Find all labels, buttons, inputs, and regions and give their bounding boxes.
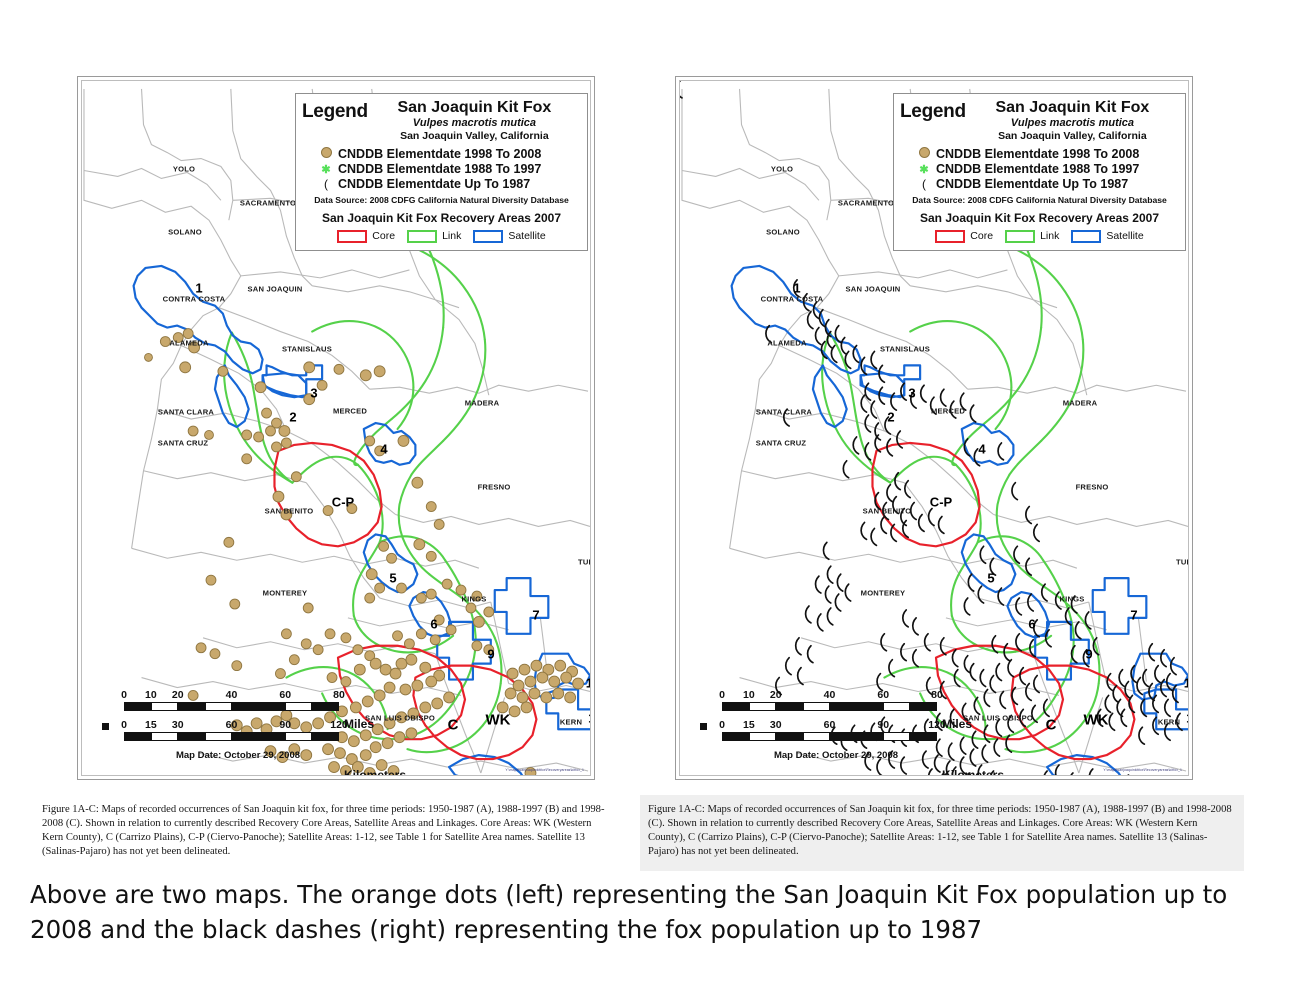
scale-tick: 30: [172, 719, 184, 731]
legend-key-link: Link: [1005, 230, 1059, 243]
scale-tick: 40: [226, 689, 238, 701]
km-unit-label: Kilometers: [942, 768, 1004, 776]
core-area-label-c-p: C-P: [930, 495, 952, 510]
scale-tick: 60: [877, 689, 889, 701]
legend-entry-label: CNDDB Elementdate 1988 To 1997: [936, 162, 1139, 176]
satellite-area-label-11: 11: [1186, 711, 1189, 726]
county-label-sacramento: SACRAMENTO: [838, 199, 894, 208]
satellite-area-label-4: 4: [978, 442, 985, 457]
miles-unit-label: Miles: [942, 717, 972, 731]
county-label-santa-clara: SANTA CLARA: [158, 408, 214, 417]
county-label-merced: MERCED: [931, 407, 965, 416]
km-unit-label: Kilometers: [344, 768, 406, 776]
legend-recovery-title: San Joaquin Kit Fox Recovery Areas 2007: [296, 211, 587, 225]
miles-ticks: 01020406080: [722, 689, 937, 702]
legend-entry-up-to-1987: ( CNDDB Elementdate Up To 1987: [296, 177, 587, 192]
county-label-santa-cruz: SANTA CRUZ: [158, 439, 209, 448]
county-label-yolo: YOLO: [173, 165, 195, 174]
scale-tick: 90: [877, 719, 889, 731]
miles-ticks: 01020406080: [124, 689, 339, 702]
county-label-kern: KERN: [560, 718, 582, 727]
satellite-area-label-3: 3: [310, 386, 317, 401]
scale-tick: 20: [770, 689, 782, 701]
county-label-san-luis-obispo: SAN LUIS OBISPO: [963, 714, 1033, 723]
county-label-tulare: TULARE: [578, 558, 591, 567]
legend-recovery-title: San Joaquin Kit Fox Recovery Areas 2007: [894, 211, 1185, 225]
legend-entry-label: CNDDB Elementdate Up To 1987: [936, 177, 1128, 191]
map-date-label: Map Date: October 29, 2008: [710, 750, 962, 761]
county-label-kern: KERN: [1158, 718, 1180, 727]
km-bar-icon: [722, 732, 937, 741]
legend-title: San Joaquin Kit Fox: [968, 100, 1177, 117]
legend-entry-label: CNDDB Elementdate 1988 To 1997: [338, 162, 541, 176]
satellite-area-label-7: 7: [1130, 608, 1137, 623]
core-area-label-wk: WK: [486, 712, 511, 729]
county-label-alameda: ALAMEDA: [767, 339, 806, 348]
county-label-monterey: MONTEREY: [861, 589, 906, 598]
satellite-swatch-icon: [1071, 230, 1101, 243]
county-label-san-luis-obispo: SAN LUIS OBISPO: [365, 714, 435, 723]
scale-tick: 10: [145, 689, 157, 701]
legend-entry-label: CNDDB Elementdate 1998 To 2008: [936, 147, 1139, 161]
county-label-alameda: ALAMEDA: [169, 339, 208, 348]
county-label-solano: SOLANO: [168, 228, 202, 237]
legend-entry-1998-2008: CNDDB Elementdate 1998 To 2008: [894, 147, 1185, 162]
satellite-area-label-1: 1: [195, 281, 202, 296]
scale-tick: 15: [743, 719, 755, 731]
satellite-area-label-10: 10: [1184, 676, 1189, 691]
black-dash-icon: (: [912, 175, 936, 193]
km-ticks: 015306090120: [124, 719, 339, 732]
core-area-label-c-p: C-P: [332, 495, 354, 510]
legend-species: Vulpes macrotis mutica: [968, 117, 1177, 130]
scale-bar-left: 01020406080 Miles 015306090120 Kilometer…: [102, 689, 364, 761]
legend-key-satellite: Satellite: [1071, 230, 1143, 243]
county-label-fresno: FRESNO: [1076, 483, 1109, 492]
satellite-area-label-4: 4: [380, 442, 387, 457]
county-label-kings: KINGS: [1059, 595, 1084, 604]
legend-region: San Joaquin Valley, California: [968, 130, 1177, 144]
explanatory-text: Above are two maps. The orange dots (lef…: [30, 878, 1270, 948]
scale-bar-right: 01020406080 Miles 015306090120 Kilometer…: [700, 689, 962, 761]
county-label-solano: SOLANO: [766, 228, 800, 237]
legend-key-label: Core: [372, 230, 395, 242]
map-canvas-right: YOLOEL DORADOSACRAMENTOAMADORSOLANOCALAV…: [679, 80, 1189, 776]
scale-tick: 120: [330, 719, 348, 731]
satellite-swatch-icon: [473, 230, 503, 243]
miles-bar-icon: [124, 702, 339, 711]
legend-key-label: Core: [970, 230, 993, 242]
county-label-yolo: YOLO: [771, 165, 793, 174]
county-label-santa-cruz: SANTA CRUZ: [756, 439, 807, 448]
scale-tick: 15: [145, 719, 157, 731]
scale-anchor-square-icon: [102, 723, 109, 730]
km-ticks: 015306090120: [722, 719, 937, 732]
satellite-area-label-5: 5: [389, 571, 396, 586]
legend-species: Vulpes macrotis mutica: [370, 117, 579, 130]
link-swatch-icon: [1005, 230, 1035, 243]
legend-region: San Joaquin Valley, California: [370, 130, 579, 144]
miles-bar-icon: [722, 702, 937, 711]
county-label-san-joaquin: SAN JOAQUIN: [248, 285, 303, 294]
county-label-fresno: FRESNO: [478, 483, 511, 492]
scale-tick: 120: [928, 719, 946, 731]
core-swatch-icon: [935, 230, 965, 243]
county-label-stanislaus: STANISLAUS: [282, 345, 332, 354]
county-label-madera: MADERA: [1063, 399, 1098, 408]
map-date-label: Map Date: October 29, 2008: [112, 750, 364, 761]
satellite-area-label-3: 3: [908, 386, 915, 401]
satellite-area-label-2: 2: [887, 410, 894, 425]
scale-tick: 0: [121, 689, 127, 701]
satellite-area-label-11: 11: [588, 711, 591, 726]
map-legend-left: Legend San Joaquin Kit Fox Vulpes macrot…: [295, 93, 588, 251]
map-credit-microtext: Y:\maps\sanjoaquinkitfox\Recoveryareas\k…: [505, 768, 584, 772]
core-area-label-wk: WK: [1084, 712, 1109, 729]
satellite-area-label-7: 7: [532, 608, 539, 623]
county-label-merced: MERCED: [333, 407, 367, 416]
core-swatch-icon: [337, 230, 367, 243]
scale-tick: 40: [824, 689, 836, 701]
legend-key-label: Link: [442, 230, 461, 242]
satellite-area-label-2: 2: [289, 410, 296, 425]
core-area-label-c: C: [448, 717, 459, 734]
county-label-sacramento: SACRAMENTO: [240, 199, 296, 208]
county-label-san-joaquin: SAN JOAQUIN: [846, 285, 901, 294]
link-swatch-icon: [407, 230, 437, 243]
legend-key-core: Core: [337, 230, 395, 243]
scale-tick: 0: [719, 719, 725, 731]
satellite-area-label-9: 9: [1085, 647, 1092, 662]
figure-caption-left: Figure 1A-C: Maps of recorded occurrence…: [42, 803, 607, 859]
satellite-area-label-5: 5: [987, 571, 994, 586]
km-bar-icon: [124, 732, 339, 741]
scale-tick: 80: [931, 689, 943, 701]
legend-entry-1998-2008: CNDDB Elementdate 1998 To 2008: [296, 147, 587, 162]
satellite-area-label-6: 6: [430, 617, 437, 632]
county-label-tulare: TULARE: [1176, 558, 1189, 567]
legend-entry-1988-1997: ✱ CNDDB Elementdate 1988 To 1997: [894, 162, 1185, 177]
black-dash-icon: (: [314, 175, 338, 193]
satellite-area-label-9: 9: [487, 647, 494, 662]
satellite-area-label-10: 10: [586, 676, 591, 691]
legend-key-satellite: Satellite: [473, 230, 545, 243]
scale-tick: 80: [333, 689, 345, 701]
legend-word: Legend: [900, 100, 966, 121]
county-label-madera: MADERA: [465, 399, 500, 408]
legend-key-label: Satellite: [1106, 230, 1143, 242]
county-label-contra-costa: CONTRA COSTA: [163, 295, 226, 304]
legend-entry-label: CNDDB Elementdate Up To 1987: [338, 177, 530, 191]
county-label-san-benito: SAN BENITO: [863, 507, 912, 516]
scale-tick: 20: [172, 689, 184, 701]
scale-tick: 0: [719, 689, 725, 701]
legend-key-label: Link: [1040, 230, 1059, 242]
figure-page: YOLOEL DORADOSACRAMENTOAMADORSOLANOCALAV…: [0, 0, 1298, 986]
legend-key-label: Satellite: [508, 230, 545, 242]
map-legend-right: Legend San Joaquin Kit Fox Vulpes macrot…: [893, 93, 1186, 251]
county-label-santa-clara: SANTA CLARA: [756, 408, 812, 417]
map-panel-left: YOLOEL DORADOSACRAMENTOAMADORSOLANOCALAV…: [77, 76, 595, 780]
scale-tick: 60: [279, 689, 291, 701]
scale-tick: 0: [121, 719, 127, 731]
county-label-kings: KINGS: [461, 595, 486, 604]
legend-data-source: Data Source: 2008 CDFG California Natura…: [296, 195, 587, 205]
legend-entry-1988-1997: ✱ CNDDB Elementdate 1988 To 1997: [296, 162, 587, 177]
figure-caption-right: Figure 1A-C: Maps of recorded occurrence…: [640, 795, 1244, 871]
core-area-label-c: C: [1046, 717, 1057, 734]
scale-tick: 60: [226, 719, 238, 731]
county-label-contra-costa: CONTRA COSTA: [761, 295, 824, 304]
legend-data-source: Data Source: 2008 CDFG California Natura…: [894, 195, 1185, 205]
scale-tick: 10: [743, 689, 755, 701]
scale-tick: 30: [770, 719, 782, 731]
satellite-area-label-1: 1: [793, 281, 800, 296]
scale-tick: 90: [279, 719, 291, 731]
legend-word: Legend: [302, 100, 368, 121]
legend-key-core: Core: [935, 230, 993, 243]
legend-entry-up-to-1987: ( CNDDB Elementdate Up To 1987: [894, 177, 1185, 192]
county-label-san-benito: SAN BENITO: [265, 507, 314, 516]
map-credit-microtext: Y:\maps\sanjoaquinkitfox\Recoveryareas\k…: [1103, 768, 1182, 772]
scale-anchor-square-icon: [700, 723, 707, 730]
satellite-area-label-6: 6: [1028, 617, 1035, 632]
legend-entry-label: CNDDB Elementdate 1998 To 2008: [338, 147, 541, 161]
county-label-monterey: MONTEREY: [263, 589, 308, 598]
legend-key-link: Link: [407, 230, 461, 243]
map-canvas-left: YOLOEL DORADOSACRAMENTOAMADORSOLANOCALAV…: [81, 80, 591, 776]
legend-title: San Joaquin Kit Fox: [370, 100, 579, 117]
map-panel-right: YOLOEL DORADOSACRAMENTOAMADORSOLANOCALAV…: [675, 76, 1193, 780]
county-label-stanislaus: STANISLAUS: [880, 345, 930, 354]
miles-unit-label: Miles: [344, 717, 374, 731]
scale-tick: 60: [824, 719, 836, 731]
